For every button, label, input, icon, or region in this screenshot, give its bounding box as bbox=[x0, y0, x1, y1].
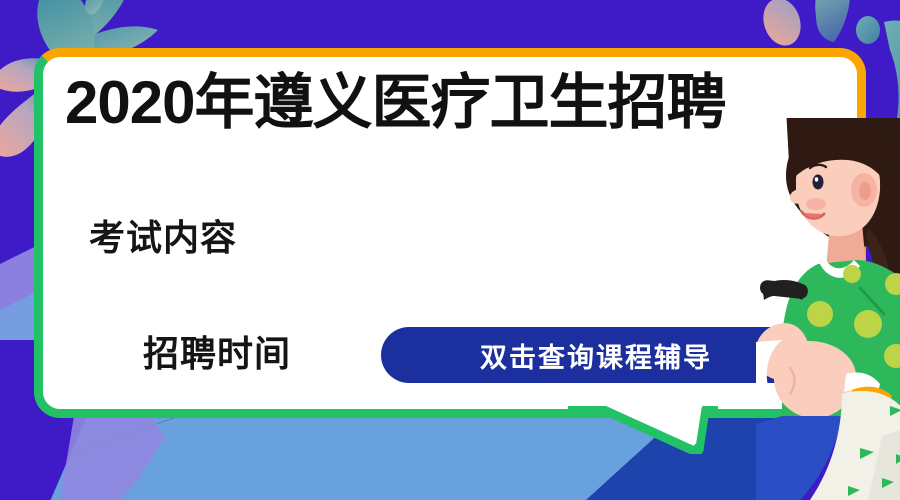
list-item-exam-content[interactable]: 考试内容 bbox=[89, 209, 237, 261]
promo-poster: 2020年遵义医疗卫生招聘 考试内容 招聘时间 双击查询课程辅导 bbox=[0, 0, 900, 500]
main-card: 2020年遵义医疗卫生招聘 考试内容 招聘时间 双击查询课程辅导 bbox=[34, 48, 866, 418]
page-title: 2020年遵义医疗卫生招聘 bbox=[65, 73, 855, 133]
list-item-recruit-time[interactable]: 招聘时间 bbox=[143, 325, 291, 377]
query-course-button[interactable]: 双击查询课程辅导 bbox=[381, 327, 811, 383]
speech-bubble-tail-icon bbox=[568, 406, 718, 454]
